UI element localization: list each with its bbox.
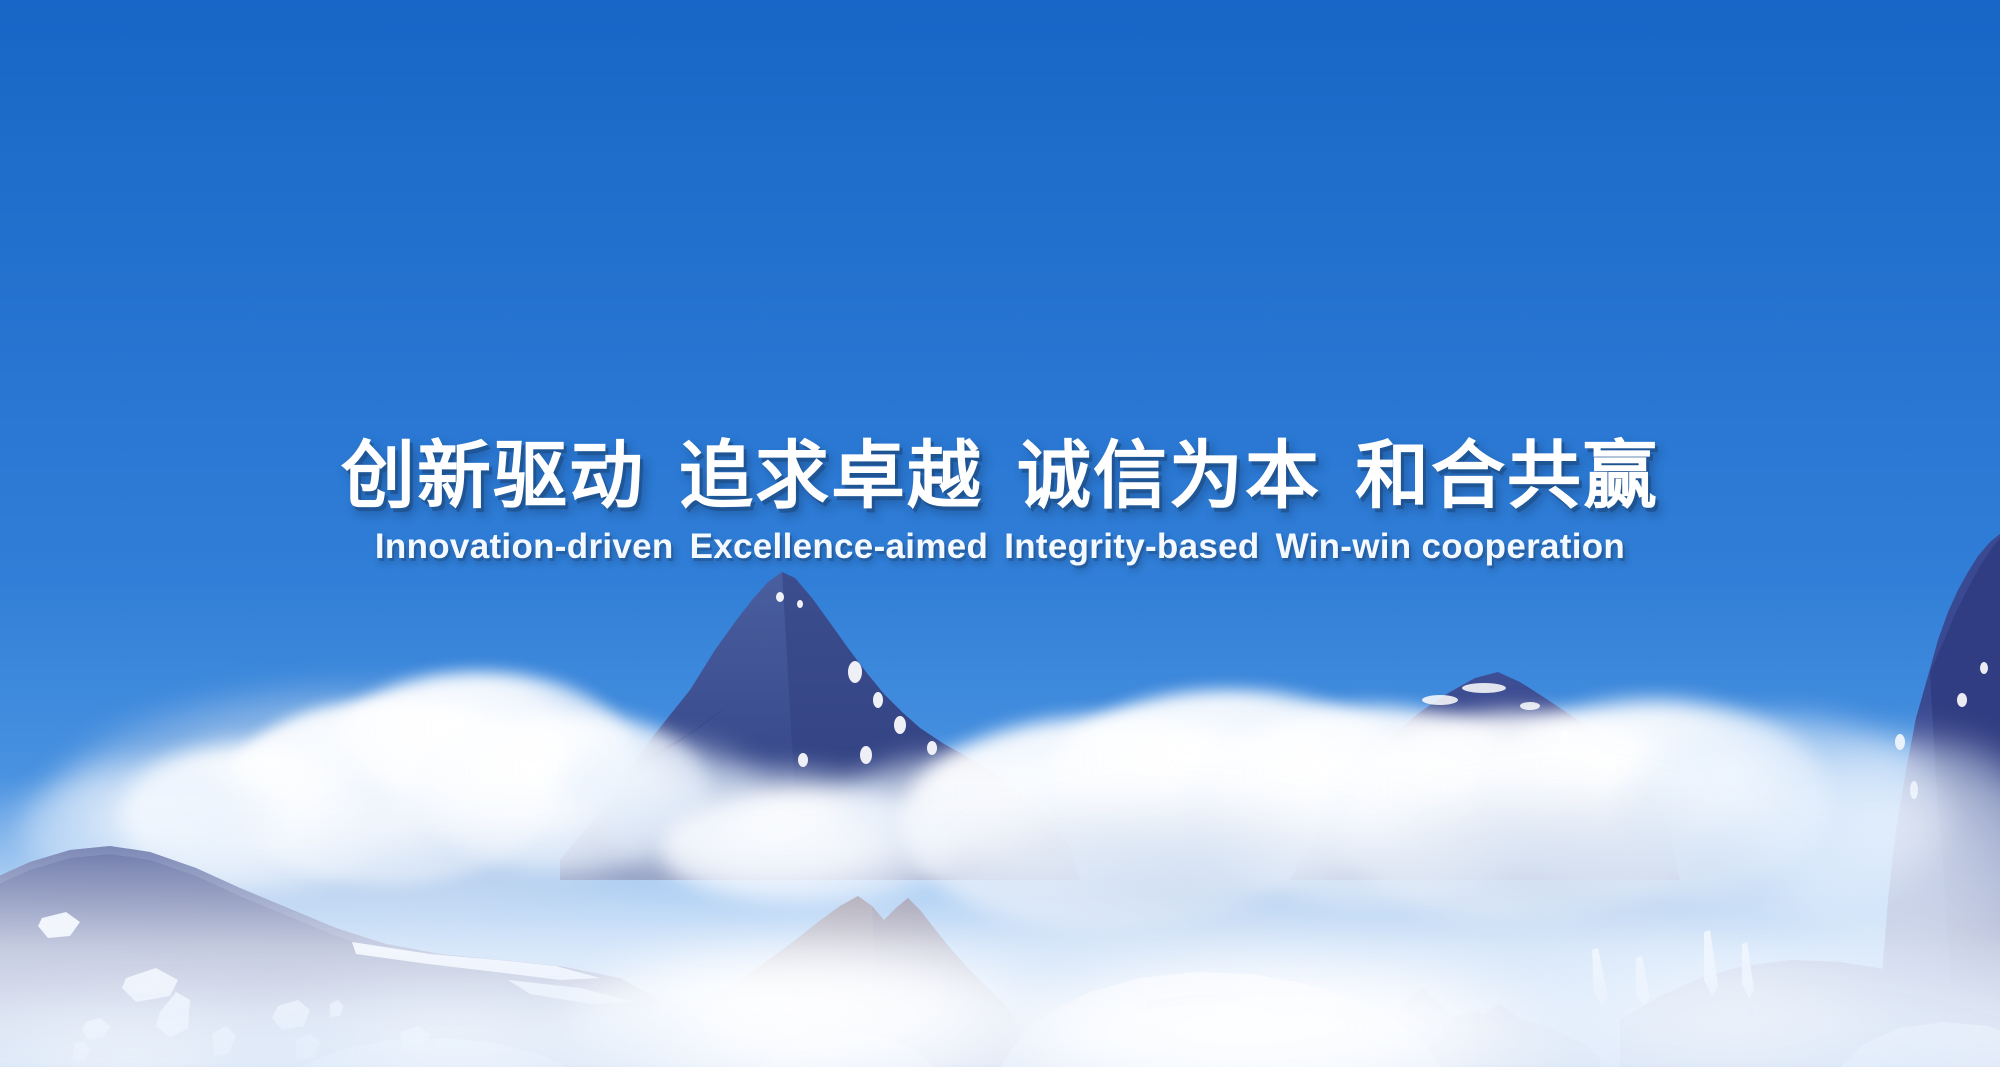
hero-headline: 创新驱动追求卓越诚信为本和合共赢 — [0, 438, 2000, 513]
fog-bank — [0, 777, 2000, 1067]
hero-subline: Innovation-drivenExcellence-aimedIntegri… — [0, 527, 2000, 567]
hero-text-block: 创新驱动追求卓越诚信为本和合共赢 Innovation-drivenExcell… — [0, 438, 2000, 567]
headline-segment-1: 创新驱动 — [341, 434, 645, 517]
headline-segment-4: 和合共赢 — [1355, 434, 1659, 517]
subline-segment-1: Innovation-driven — [375, 527, 674, 566]
hero-banner: 创新驱动追求卓越诚信为本和合共赢 Innovation-drivenExcell… — [0, 0, 2000, 1067]
subline-segment-2: Excellence-aimed — [690, 527, 989, 566]
subline-segment-3: Integrity-based — [1004, 527, 1259, 566]
headline-segment-2: 追求卓越 — [679, 434, 983, 517]
subline-segment-4: Win-win cooperation — [1276, 527, 1626, 566]
headline-segment-3: 诚信为本 — [1017, 434, 1321, 517]
